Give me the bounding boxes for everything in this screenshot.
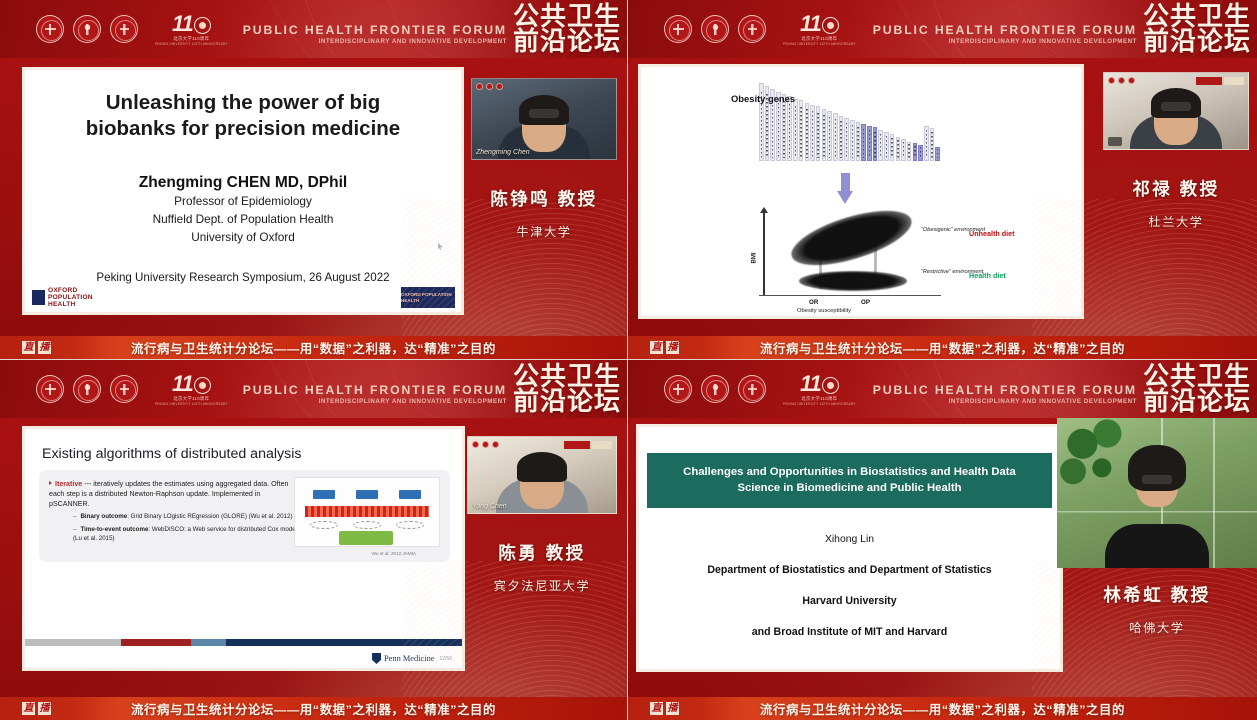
anniversary-subtitle-en: PEKING UNIVERSITY 110TH ANNIVERSARY (155, 42, 228, 46)
anniversary-subtitle-en: PEKING UNIVERSITY 110TH ANNIVERSARY (783, 42, 856, 46)
university-seals: 11 北京大学110周年 PEKING UNIVERSITY 110TH ANN… (664, 373, 856, 406)
slide-subbullet-2: –Time-to-event outcome: WebDISCO: a Web … (73, 526, 299, 544)
figure-local-ellipses (303, 521, 431, 529)
brand-english-title: PUBLIC HEALTH FRONTIER FORUM (873, 24, 1137, 37)
subbullet-1-lead: Binary outcome (80, 513, 127, 520)
speaker-glasses-icon (1161, 102, 1191, 111)
video-watermark-seals-icon (472, 441, 499, 448)
speaker-block: Yong Chen 陈勇 教授 宾夕法尼亚大学 (467, 436, 617, 594)
presentation-slide[interactable]: Unleashing the power of big biobanks for… (22, 67, 464, 315)
video-watermark-seals-icon (1108, 77, 1135, 84)
x-tick-or: OR (809, 299, 818, 306)
speaker-name: 林希虹 教授 (1057, 582, 1257, 607)
medical-school-seal-icon (73, 15, 101, 43)
video-watermark-seals-icon (476, 83, 503, 90)
brand-english-title: PUBLIC HEALTH FRONTIER FORUM (873, 384, 1137, 397)
live-banner: 直 播 流行病与卫生统计分论坛——用“数据”之利器，达“精准”之目的 (628, 336, 1257, 359)
penn-medicine-logo: Penn Medicine 12/56 (372, 653, 452, 664)
slide-presenter: Xihong Lin (639, 534, 1060, 545)
down-arrow-icon (837, 173, 854, 207)
brand-chinese-line2: 前沿论坛 (513, 29, 621, 54)
presentation-slide[interactable]: Obesity genes (638, 64, 1084, 319)
oxford-crest-icon (32, 290, 45, 305)
university-seals: 11 北京大学110周年 PEKING UNIVERSITY 110TH ANN… (36, 373, 228, 406)
medical-school-seal-icon (73, 375, 101, 403)
slide-page-number: 12/56 (439, 656, 452, 662)
speaker-glasses-icon (529, 109, 559, 118)
video-watermark-logo-icon (1196, 77, 1244, 85)
slide-bullet: Iterative --- iteratively updates the es… (49, 479, 299, 544)
panel-body: Unleashing the power of big biobanks for… (0, 58, 627, 336)
forum-brand: PUBLIC HEALTH FRONTIER FORUM INTERDISCIP… (873, 360, 1251, 418)
speaker-glasses-icon (1142, 475, 1172, 484)
public-health-seal-icon (738, 15, 766, 43)
speaker-hair (1128, 445, 1186, 491)
slide-affiliation-1: Professor of Epidemiology (25, 193, 461, 210)
slide-line-3: and Broad Institute of MIT and Harvard (639, 626, 1060, 638)
speaker-block: 林希虹 教授 哈佛大学 (1057, 418, 1257, 636)
presentation-slide[interactable]: Existing algorithms of distributed analy… (22, 426, 465, 671)
medical-school-seal-icon (701, 15, 729, 43)
stream-panel-2[interactable]: 11 北京大学110周年 PEKING UNIVERSITY 110TH ANN… (628, 0, 1257, 360)
panel-body: Existing algorithms of distributed analy… (0, 418, 627, 697)
x-axis-label: Obesity susceptibility (797, 308, 851, 314)
anniversary-number: 11 (800, 373, 821, 395)
bullet-lead: Iterative (55, 480, 82, 488)
speaker-video-tile[interactable] (1057, 418, 1257, 568)
slide-color-bar (25, 639, 462, 646)
speaker-name: 陈勇 教授 (467, 540, 617, 565)
peking-university-seal-icon (664, 375, 692, 403)
brand-chinese-line2: 前沿论坛 (513, 389, 621, 414)
anniversary-subtitle-en: PEKING UNIVERSITY 110TH ANNIVERSARY (783, 402, 856, 406)
stream-panel-4[interactable]: 11 北京大学110周年 PEKING UNIVERSITY 110TH ANN… (628, 360, 1257, 720)
legend-unhealthy-diet: Unhealth diet (969, 229, 1015, 238)
x-axis (759, 295, 941, 297)
slide-affiliation-3: University of Oxford (25, 229, 461, 246)
forum-header: 11 北京大学110周年 PEKING UNIVERSITY 110TH ANN… (628, 0, 1257, 58)
slide-affiliation-2: Nuffield Dept. of Population Health (25, 211, 461, 228)
forum-brand: PUBLIC HEALTH FRONTIER FORUM INTERDISCIP… (243, 360, 621, 418)
live-banner-title: 流行病与卫生统计分论坛——用“数据”之利器，达“精准”之目的 (628, 700, 1257, 718)
forum-brand: PUBLIC HEALTH FRONTIER FORUM INTERDISCIP… (873, 0, 1251, 58)
oxford-badge-text: OXFORD POPULATION HEALTH (401, 292, 455, 302)
video-mute-indicator-icon (1108, 137, 1122, 146)
bullet-triangle-icon (49, 481, 52, 485)
oxford-logo-line3: HEALTH (48, 301, 93, 308)
forum-header: 11 北京大学110周年 PEKING UNIVERSITY 110TH ANN… (0, 360, 627, 418)
figure-glore-box (339, 531, 393, 545)
legend-healthy-diet: Health diet (969, 271, 1006, 280)
speaker-video-tile[interactable]: Zhengming Chen (471, 78, 617, 160)
subbullet-1-text: : Grid Binary LOgistic REgression (GLORE… (127, 513, 292, 520)
anniversary-number: 11 (800, 13, 821, 35)
video-watermark-logo-icon (564, 441, 612, 449)
speaker-torso (1105, 524, 1209, 568)
figure-site-nodes (303, 490, 431, 499)
anniversary-subtitle-en: PEKING UNIVERSITY 110TH ANNIVERSARY (155, 402, 228, 406)
live-banner: 直 播 流行病与卫生统计分论坛——用“数据”之利器，达“精准”之目的 (0, 697, 627, 720)
brand-english-subtitle: INTERDISCIPLINARY AND INNOVATIVE DEVELOP… (873, 397, 1137, 406)
y-axis (763, 211, 765, 296)
video-wall-grid: 11 北京大学110周年 PEKING UNIVERSITY 110TH ANN… (0, 0, 1257, 720)
anniversary-logo: 11 北京大学110周年 PEKING UNIVERSITY 110TH ANN… (155, 373, 228, 406)
peking-university-seal-icon (36, 15, 64, 43)
bmi-scatter-figure: BMI “Obesigenic” environment “Restrictiv… (737, 207, 987, 312)
dash-icon: – (73, 526, 76, 533)
anniversary-ring-icon (822, 377, 839, 394)
presentation-slide[interactable]: Challenges and Opportunities in Biostati… (636, 424, 1063, 672)
forum-header: 11 北京大学110周年 PEKING UNIVERSITY 110TH ANN… (0, 0, 627, 58)
speaker-name: 陈铮鸣 教授 (471, 186, 617, 211)
live-banner: 直 播 流行病与卫生统计分论坛——用“数据”之利器，达“精准”之目的 (0, 336, 627, 359)
scatter-cloud-obesigenic (786, 200, 918, 277)
speaker-block: 祁禄 教授 杜兰大学 (1103, 72, 1249, 230)
public-health-seal-icon (738, 375, 766, 403)
oxford-logo-line2: POPULATION (48, 294, 93, 301)
anniversary-ring-icon (194, 377, 211, 394)
live-banner: 直 播 流行病与卫生统计分论坛——用“数据”之利器，达“精准”之目的 (628, 697, 1257, 720)
speaker-organization: 哈佛大学 (1057, 618, 1257, 636)
university-seals: 11 北京大学110周年 PEKING UNIVERSITY 110TH ANN… (664, 13, 856, 46)
subbullet-2-lead: Time-to-event outcome (80, 526, 148, 533)
panel-body: Challenges and Opportunities in Biostati… (628, 418, 1257, 697)
video-name-label: Zhengming Chen (476, 149, 530, 156)
penn-shield-icon (372, 653, 381, 664)
medical-school-seal-icon (701, 375, 729, 403)
video-name-label: Yong Chen (472, 503, 507, 510)
oxford-badge: OXFORD POPULATION HEALTH (401, 287, 455, 308)
stream-panel-1[interactable]: 11 北京大学110周年 PEKING UNIVERSITY 110TH ANN… (0, 0, 628, 360)
figure-aggregation-bar (305, 506, 429, 517)
brand-english-title: PUBLIC HEALTH FRONTIER FORUM (243, 24, 507, 37)
brand-chinese-line2: 前沿论坛 (1143, 389, 1251, 414)
bullet-text: --- iteratively updates the estimates us… (49, 480, 288, 508)
brand-english-subtitle: INTERDISCIPLINARY AND INNOVATIVE DEVELOP… (243, 37, 507, 46)
slide-event: Peking University Research Symposium, 26… (25, 271, 461, 284)
slide-body: Xihong Lin Department of Biostatistics a… (639, 534, 1060, 638)
dash-icon: – (73, 513, 76, 520)
anniversary-number: 11 (172, 13, 193, 35)
slide-line-1: Department of Biostatistics and Departme… (639, 564, 1060, 576)
stream-panel-3[interactable]: 11 北京大学110周年 PEKING UNIVERSITY 110TH ANN… (0, 360, 628, 720)
anniversary-number: 11 (172, 373, 193, 395)
brand-english-subtitle: INTERDISCIPLINARY AND INNOVATIVE DEVELOP… (873, 37, 1137, 46)
penn-brand-text: Penn Medicine (384, 654, 434, 663)
brand-chinese-line2: 前沿论坛 (1143, 29, 1251, 54)
anniversary-logo: 11 北京大学110周年 PEKING UNIVERSITY 110TH ANN… (155, 13, 228, 46)
forum-header: 11 北京大学110周年 PEKING UNIVERSITY 110TH ANN… (628, 360, 1257, 418)
live-banner-title: 流行病与卫生统计分论坛——用“数据”之利器，达“精准”之目的 (0, 700, 627, 718)
video-background-plant (1059, 418, 1137, 504)
speaker-organization: 杜兰大学 (1103, 212, 1249, 230)
live-banner-title: 流行病与卫生统计分论坛——用“数据”之利器，达“精准”之目的 (0, 339, 627, 357)
oxford-logo: OXFORD POPULATION HEALTH (32, 287, 93, 308)
speaker-hair (517, 452, 567, 482)
slide-title: Challenges and Opportunities in Biostati… (665, 465, 1034, 496)
scatter-cloud-restrictive (799, 271, 907, 291)
anniversary-logo: 11 北京大学110周年 PEKING UNIVERSITY 110TH ANN… (783, 13, 856, 46)
figure-citation: Wu et al. 2012 JAMIA (372, 551, 416, 556)
public-health-seal-icon (110, 15, 138, 43)
glore-architecture-figure (294, 477, 440, 547)
panel-body: Obesity genes (628, 58, 1257, 336)
speaker-organization: 宾夕法尼亚大学 (467, 576, 617, 594)
brand-english-subtitle: INTERDISCIPLINARY AND INNOVATIVE DEVELOP… (243, 397, 507, 406)
peking-university-seal-icon (36, 375, 64, 403)
forum-brand: PUBLIC HEALTH FRONTIER FORUM INTERDISCIP… (243, 0, 621, 58)
speaker-video-tile[interactable]: Yong Chen (467, 436, 617, 514)
oxford-logo-line1: OXFORD (48, 287, 93, 294)
speaker-name: 祁禄 教授 (1103, 176, 1249, 201)
university-seals: 11 北京大学110周年 PEKING UNIVERSITY 110TH ANN… (36, 13, 228, 46)
live-banner-title: 流行病与卫生统计分论坛——用“数据”之利器，达“精准”之目的 (628, 339, 1257, 357)
slide-subbullet-1: –Binary outcome: Grid Binary LOgistic RE… (73, 513, 299, 522)
speaker-video-tile[interactable] (1103, 72, 1249, 150)
slide-line-2: Harvard University (639, 595, 1060, 607)
public-health-seal-icon (110, 375, 138, 403)
x-tick-op: OP (861, 299, 870, 306)
speaker-organization: 牛津大学 (471, 222, 617, 240)
obesity-genes-barchart (751, 75, 961, 169)
slide-presenter: Zhengming CHEN MD, DPhil (25, 174, 461, 192)
speaker-block: Zhengming Chen 陈铮鸣 教授 牛津大学 (471, 78, 617, 240)
brand-english-title: PUBLIC HEALTH FRONTIER FORUM (243, 384, 507, 397)
figure-chart-title: Obesity genes (731, 93, 795, 104)
anniversary-logo: 11 北京大学110周年 PEKING UNIVERSITY 110TH ANN… (783, 373, 856, 406)
anniversary-ring-icon (822, 17, 839, 34)
anniversary-ring-icon (194, 17, 211, 34)
slide-title-band: Challenges and Opportunities in Biostati… (647, 453, 1052, 508)
slide-content-box: Iterative --- iteratively updates the es… (39, 470, 450, 562)
y-axis-label: BMI (752, 253, 758, 264)
peking-university-seal-icon (664, 15, 692, 43)
slide-title: Existing algorithms of distributed analy… (42, 446, 301, 462)
slide-title: Unleashing the power of big biobanks for… (25, 90, 461, 142)
